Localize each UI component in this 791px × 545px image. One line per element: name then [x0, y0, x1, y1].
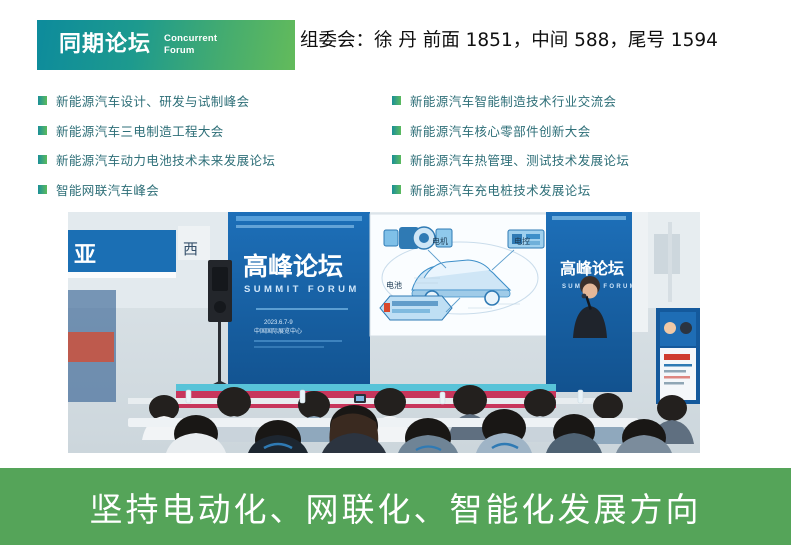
slogan-banner: 坚持电动化、网联化、智能化发展方向: [0, 468, 791, 545]
svg-text:高峰论坛: 高峰论坛: [560, 259, 624, 278]
event-photo: 亚 西 高峰论坛 SUMMIT FORUM 2023.6.7-9 中国国际展览中…: [68, 212, 700, 453]
forum-list-item[interactable]: 智能网联汽车峰会: [38, 175, 378, 205]
forum-list: 新能源汽车设计、研发与试制峰会 新能源汽车三电制造工程大会 新能源汽车动力电池技…: [0, 86, 791, 204]
svg-text:高峰论坛: 高峰论坛: [243, 252, 343, 281]
forum-banner-title-en: Concurrent Forum: [164, 33, 217, 57]
square-bullet-icon: [38, 126, 47, 135]
forum-item-label: 新能源汽车智能制造技术行业交流会: [410, 91, 616, 110]
slogan-text: 坚持电动化、网联化、智能化发展方向: [90, 483, 702, 531]
forum-item-label: 新能源汽车动力电池技术未来发展论坛: [56, 150, 275, 169]
svg-text:中国国际展览中心: 中国国际展览中心: [254, 327, 302, 335]
square-bullet-icon: [38, 185, 47, 194]
forum-item-label: 新能源汽车充电桩技术发展论坛: [410, 180, 591, 199]
square-bullet-icon: [38, 96, 47, 105]
forum-banner-title-cn: 同期论坛: [59, 34, 151, 56]
concurrent-forum-banner: 同期论坛 Concurrent Forum: [37, 20, 295, 70]
svg-text:电池: 电池: [386, 280, 402, 290]
forum-list-item[interactable]: 新能源汽车充电桩技术发展论坛: [392, 175, 732, 205]
header-row: 同期论坛 Concurrent Forum 组委会：徐 丹 前面 1851，中间…: [0, 0, 791, 80]
svg-text:电控: 电控: [514, 236, 530, 246]
forum-item-label: 新能源汽车设计、研发与试制峰会: [56, 91, 250, 110]
square-bullet-icon: [392, 185, 401, 194]
square-bullet-icon: [38, 155, 47, 164]
forum-list-item[interactable]: 新能源汽车三电制造工程大会: [38, 116, 378, 146]
forum-item-label: 新能源汽车核心零部件创新大会: [410, 121, 591, 140]
svg-text:亚: 亚: [74, 243, 96, 268]
forum-column-right: 新能源汽车智能制造技术行业交流会 新能源汽车核心零部件创新大会 新能源汽车热管理…: [392, 86, 732, 204]
forum-item-label: 智能网联汽车峰会: [56, 180, 159, 199]
organizer-contact-note: 组委会：徐 丹 前面 1851，中间 588，尾号 1594: [300, 26, 718, 52]
forum-item-label: 新能源汽车三电制造工程大会: [56, 121, 224, 140]
forum-list-item[interactable]: 新能源汽车核心零部件创新大会: [392, 116, 732, 146]
svg-text:SUMMIT FORUM: SUMMIT FORUM: [244, 284, 360, 295]
forum-list-item[interactable]: 新能源汽车动力电池技术未来发展论坛: [38, 145, 378, 175]
square-bullet-icon: [392, 96, 401, 105]
forum-column-left: 新能源汽车设计、研发与试制峰会 新能源汽车三电制造工程大会 新能源汽车动力电池技…: [38, 86, 378, 204]
forum-item-label: 新能源汽车热管理、测试技术发展论坛: [410, 150, 629, 169]
svg-text:电机: 电机: [432, 236, 448, 246]
svg-text:2023.6.7-9: 2023.6.7-9: [264, 320, 293, 326]
forum-list-item[interactable]: 新能源汽车智能制造技术行业交流会: [392, 86, 732, 116]
forum-list-item[interactable]: 新能源汽车热管理、测试技术发展论坛: [392, 145, 732, 175]
square-bullet-icon: [392, 155, 401, 164]
square-bullet-icon: [392, 126, 401, 135]
svg-text:西: 西: [183, 240, 198, 258]
forum-list-item[interactable]: 新能源汽车设计、研发与试制峰会: [38, 86, 378, 116]
